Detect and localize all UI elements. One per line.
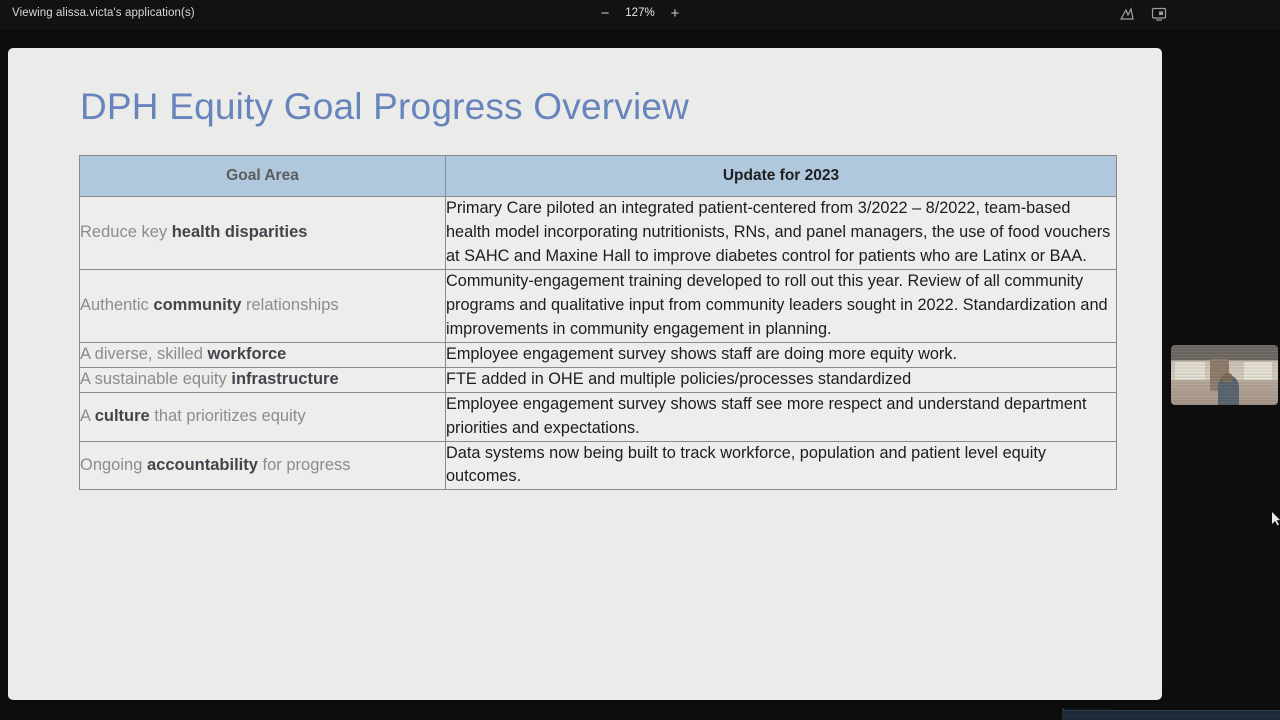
cell-update: Employee engagement survey shows staff s… — [446, 392, 1117, 441]
cell-goal-area: A culture that prioritizes equity — [80, 392, 446, 441]
screen-share-icon[interactable] — [1150, 5, 1168, 23]
goal-text-prefix: Ongoing — [80, 456, 147, 474]
table-body: Reduce key health disparities Primary Ca… — [80, 197, 1117, 490]
goal-text-emphasis: community — [153, 296, 241, 314]
cell-goal-area: Authentic community relationships — [80, 269, 446, 342]
goal-text-emphasis: health disparities — [172, 223, 308, 241]
topbar-actions — [1118, 5, 1168, 23]
goal-text-prefix: A — [80, 407, 95, 425]
table-row: A culture that prioritizes equity Employ… — [80, 392, 1117, 441]
screen-share-viewer: Viewing alissa.victa's application(s) − … — [0, 0, 1280, 720]
goal-text-emphasis: infrastructure — [231, 370, 338, 388]
video-scanline-overlay — [1171, 345, 1278, 405]
cell-update: Employee engagement survey shows staff a… — [446, 342, 1117, 367]
zoom-in-button[interactable]: + — [668, 6, 682, 20]
cell-update: Primary Care piloted an integrated patie… — [446, 197, 1117, 270]
mouse-cursor-icon — [1272, 512, 1280, 526]
table-row: A sustainable equity infrastructure FTE … — [80, 367, 1117, 392]
zoom-level-value: 127% — [623, 7, 657, 19]
shared-slide-surface: DPH Equity Goal Progress Overview Goal A… — [8, 48, 1162, 700]
goal-text-prefix: A sustainable equity — [80, 370, 231, 388]
table-row: Ongoing accountability for progress Data… — [80, 441, 1117, 490]
column-header-goal-area: Goal Area — [80, 156, 446, 197]
cell-update: FTE added in OHE and multiple policies/p… — [446, 367, 1117, 392]
table-row: Reduce key health disparities Primary Ca… — [80, 197, 1117, 270]
goal-text-emphasis: workforce — [207, 345, 286, 363]
goal-text-emphasis: culture — [95, 407, 150, 425]
cell-goal-area: A diverse, skilled workforce — [80, 342, 446, 367]
goal-text-prefix: A diverse, skilled — [80, 345, 207, 363]
goal-text-emphasis: accountability — [147, 456, 258, 474]
table-header-row: Goal Area Update for 2023 — [80, 156, 1117, 197]
participant-video-thumbnail[interactable] — [1171, 345, 1278, 405]
table-row: Authentic community relationships Commun… — [80, 269, 1117, 342]
goal-text-prefix: Authentic — [80, 296, 153, 314]
page-title: DPH Equity Goal Progress Overview — [80, 86, 689, 128]
zoom-controls: − 127% + — [598, 6, 682, 20]
goal-text-suffix: that prioritizes equity — [150, 407, 306, 425]
cell-update: Community-engagement training developed … — [446, 269, 1117, 342]
viewer-topbar: Viewing alissa.victa's application(s) − … — [0, 0, 1280, 30]
background-taskbar-strip — [1062, 710, 1280, 720]
viewing-status-label: Viewing alissa.victa's application(s) — [12, 7, 195, 19]
goal-text-prefix: Reduce key — [80, 223, 172, 241]
table-row: A diverse, skilled workforce Employee en… — [80, 342, 1117, 367]
cell-update: Data systems now being built to track wo… — [446, 441, 1117, 490]
goal-text-suffix: for progress — [258, 456, 351, 474]
cell-goal-area: A sustainable equity infrastructure — [80, 367, 446, 392]
cell-goal-area: Ongoing accountability for progress — [80, 441, 446, 490]
equity-goal-progress-table: Goal Area Update for 2023 Reduce key hea… — [79, 155, 1117, 490]
goal-text-suffix: relationships — [241, 296, 338, 314]
column-header-update: Update for 2023 — [446, 156, 1117, 197]
cell-goal-area: Reduce key health disparities — [80, 197, 446, 270]
network-activity-icon[interactable] — [1118, 5, 1136, 23]
zoom-out-button[interactable]: − — [598, 6, 612, 20]
